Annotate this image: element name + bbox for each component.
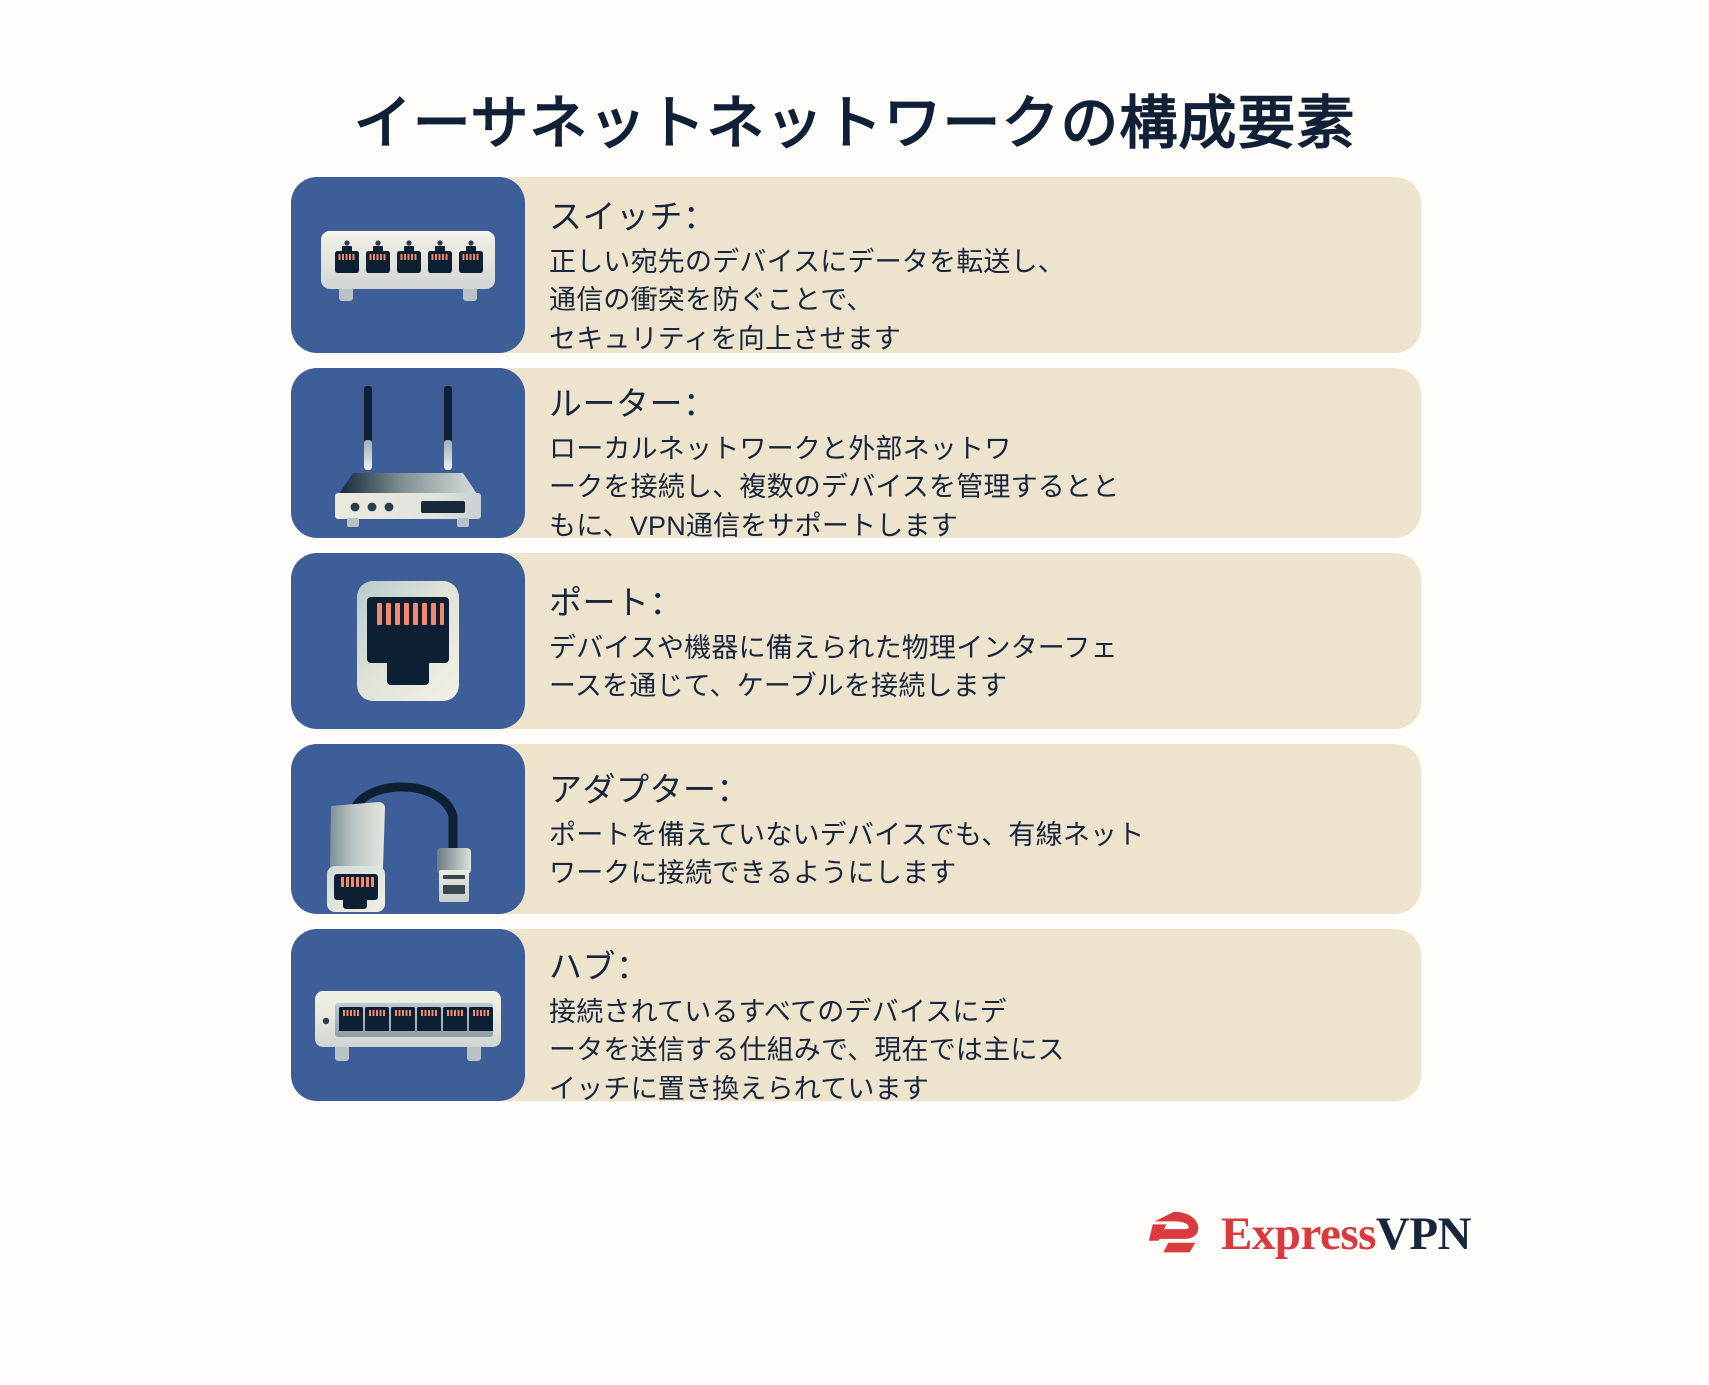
rj45-port-icon [291,553,525,729]
ethernet-switch-icon [291,177,525,353]
card-port: ポート： デバイスや機器に備えられた物理インターフェ ースを通じて、ケーブルを接… [291,553,1421,729]
component-card-list: スイッチ： 正しい宛先のデバイスにデータを転送し、 通信の衝突を防ぐことで、 セ… [291,177,1421,1116]
expressvpn-logo-mark [1145,1203,1207,1265]
desc-line: ローカルネットワークと外部ネットワ [549,430,1387,468]
desc-line: ースを通じて、ケーブルを接続します [549,667,1387,705]
desc-line: ポートを備えていないデバイスでも、有線ネット [549,816,1387,854]
card-title: スイッチ： [549,193,1387,241]
card-description: 接続されているすべてのデバイスにデ ータを送信する仕組みで、現在では主にス イッ… [549,993,1387,1108]
desc-line: イッチに置き換えられています [549,1070,1387,1108]
desc-line: ータを送信する仕組みで、現在では主にス [549,1031,1387,1069]
page-title: イーサネットネットワークの構成要素 [0,91,1709,158]
logo-express-text: Express [1221,1208,1376,1260]
ethernet-hub-icon [291,929,525,1101]
card-title: ハブ： [549,943,1387,991]
expressvpn-wordmark: ExpressVPN [1221,1207,1471,1261]
desc-line: 接続されているすべてのデバイスにデ [549,993,1387,1031]
card-switch: スイッチ： 正しい宛先のデバイスにデータを転送し、 通信の衝突を防ぐことで、 セ… [291,177,1421,353]
desc-line: 通信の衝突を防ぐことで、 [549,281,1387,319]
card-description: 正しい宛先のデバイスにデータを転送し、 通信の衝突を防ぐことで、 セキュリティを… [549,243,1387,358]
desc-line: もに、VPN通信をサポートします [549,507,1387,545]
card-description: ローカルネットワークと外部ネットワ ークを接続し、複数のデバイスを管理するとと … [549,430,1387,545]
infographic-page: イーサネットネットワークの構成要素 [0,0,1709,1385]
desc-line: デバイスや機器に備えられた物理インターフェ [549,629,1387,667]
expressvpn-logo: ExpressVPN [1145,1203,1471,1265]
card-title: アダプター： [549,766,1387,814]
card-description: デバイスや機器に備えられた物理インターフェ ースを通じて、ケーブルを接続します [549,629,1387,706]
desc-line: 正しい宛先のデバイスにデータを転送し、 [549,243,1387,281]
card-title: ポート： [549,579,1387,627]
desc-line: セキュリティを向上させます [549,320,1387,358]
card-adapter: アダプター： ポートを備えていないデバイスでも、有線ネット ワークに接続できるよ… [291,744,1421,914]
desc-line: ワークに接続できるようにします [549,854,1387,892]
wireless-router-icon [291,368,525,538]
logo-vpn-text: VPN [1376,1208,1471,1260]
card-router: ルーター： ローカルネットワークと外部ネットワ ークを接続し、複数のデバイスを管… [291,368,1421,538]
card-description: ポートを備えていないデバイスでも、有線ネット ワークに接続できるようにします [549,816,1387,893]
usb-ethernet-adapter-icon [291,744,525,914]
desc-line: ークを接続し、複数のデバイスを管理するとと [549,468,1387,506]
card-title: ルーター： [549,380,1387,428]
card-hub: ハブ： 接続されているすべてのデバイスにデ ータを送信する仕組みで、現在では主に… [291,929,1421,1101]
